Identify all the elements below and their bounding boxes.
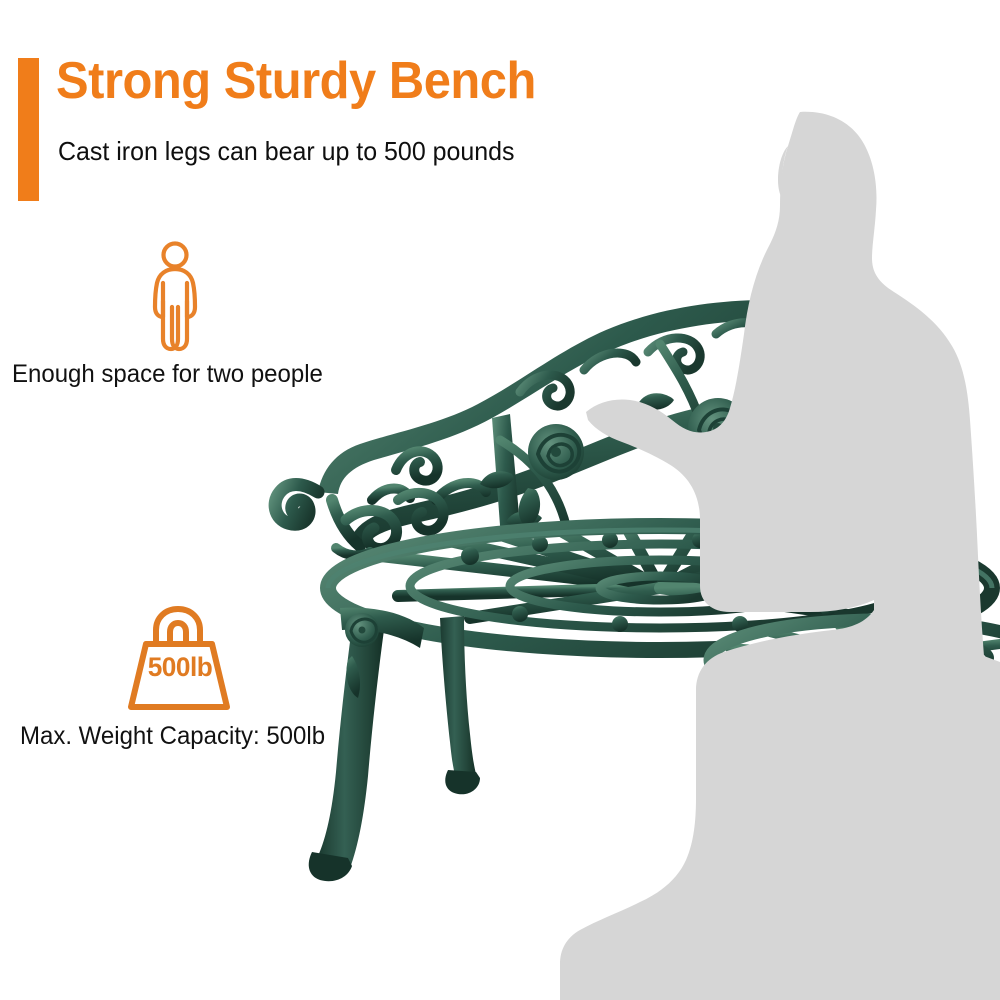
bench-leg-front-left <box>309 608 424 882</box>
rear-backrest-scroll <box>896 500 963 604</box>
bench-seat <box>328 526 992 650</box>
seat-rim <box>328 526 992 650</box>
page-title: Strong Sturdy Bench <box>56 52 536 112</box>
backrest-top-rail <box>318 300 924 494</box>
bench-backrest <box>318 300 924 556</box>
backrest-scrollwork-left <box>372 451 486 500</box>
seat-filigree <box>380 526 924 632</box>
page-subtitle: Cast iron legs can bear up to 500 pounds <box>58 136 515 167</box>
bag-weight-label: 500lb <box>128 652 233 683</box>
leg-rose-ornament <box>345 613 379 647</box>
backrest-rose-vine-right <box>638 344 780 482</box>
bench-rear-seat <box>710 500 1000 700</box>
bench-legs <box>309 608 1000 965</box>
bench-armrest-left <box>275 485 443 556</box>
backrest-center-post <box>492 414 522 552</box>
bag-handle-inner <box>170 623 186 644</box>
backrest-rose-vine-left <box>480 424 584 556</box>
person-head <box>164 244 187 267</box>
bag-handle-outer <box>156 609 200 644</box>
backrest-vine-far-right <box>824 330 874 404</box>
accent-bar <box>18 58 39 201</box>
seated-person-silhouette <box>560 112 1000 1000</box>
backrest-lower-rail <box>352 396 918 544</box>
feature-caption-two-people: Enough space for two people <box>12 360 323 389</box>
feature-caption-max-weight: Max. Weight Capacity: 500lb <box>20 722 325 751</box>
infographic-page: Strong Sturdy Bench Cast iron legs can b… <box>0 0 1000 1000</box>
backrest-scrollwork-upper <box>520 323 768 406</box>
bench-leg-front-right <box>760 658 900 965</box>
person-icon <box>146 241 204 353</box>
bench-leg-rear-right <box>930 670 1000 820</box>
bench-leg-middle <box>440 616 480 794</box>
